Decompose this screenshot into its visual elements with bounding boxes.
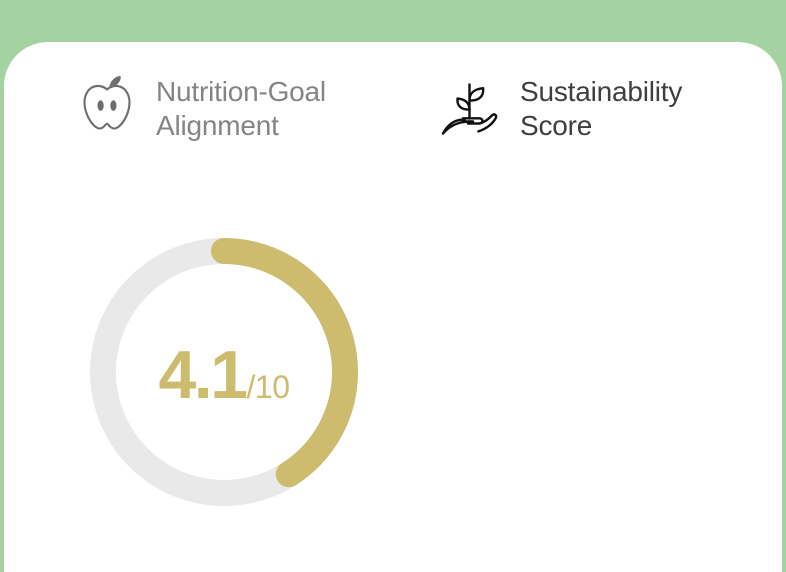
gauge-center-nutrition: 4.1 /10 [90,238,358,506]
metric-header-sustainability: Sustainability Score [440,74,682,143]
metric-title-nutrition: Nutrition-Goal Alignment [156,75,326,143]
apple-icon [76,74,138,138]
metric-title-sustainability: Sustainability Score [520,75,682,143]
metric-header-nutrition: Nutrition-Goal Alignment [76,74,326,143]
metric-sustainability-score: Sustainability Score 8.5 /10 [424,42,782,572]
gauge-nutrition-goal-alignment: 4.1 /10 [90,238,358,506]
gauge-denominator-nutrition: /10 [247,369,290,406]
gauge-readout-nutrition: 4.1 /10 [158,336,289,414]
screenshot-root: Nutrition-Goal Alignment 4.1 /10 [0,0,786,528]
scores-card: Nutrition-Goal Alignment 4.1 /10 [4,42,782,572]
metric-nutrition-goal-alignment: Nutrition-Goal Alignment 4.1 /10 [4,42,424,572]
sprout-in-hand-icon [440,78,502,138]
gauge-value-nutrition: 4.1 [158,336,245,414]
